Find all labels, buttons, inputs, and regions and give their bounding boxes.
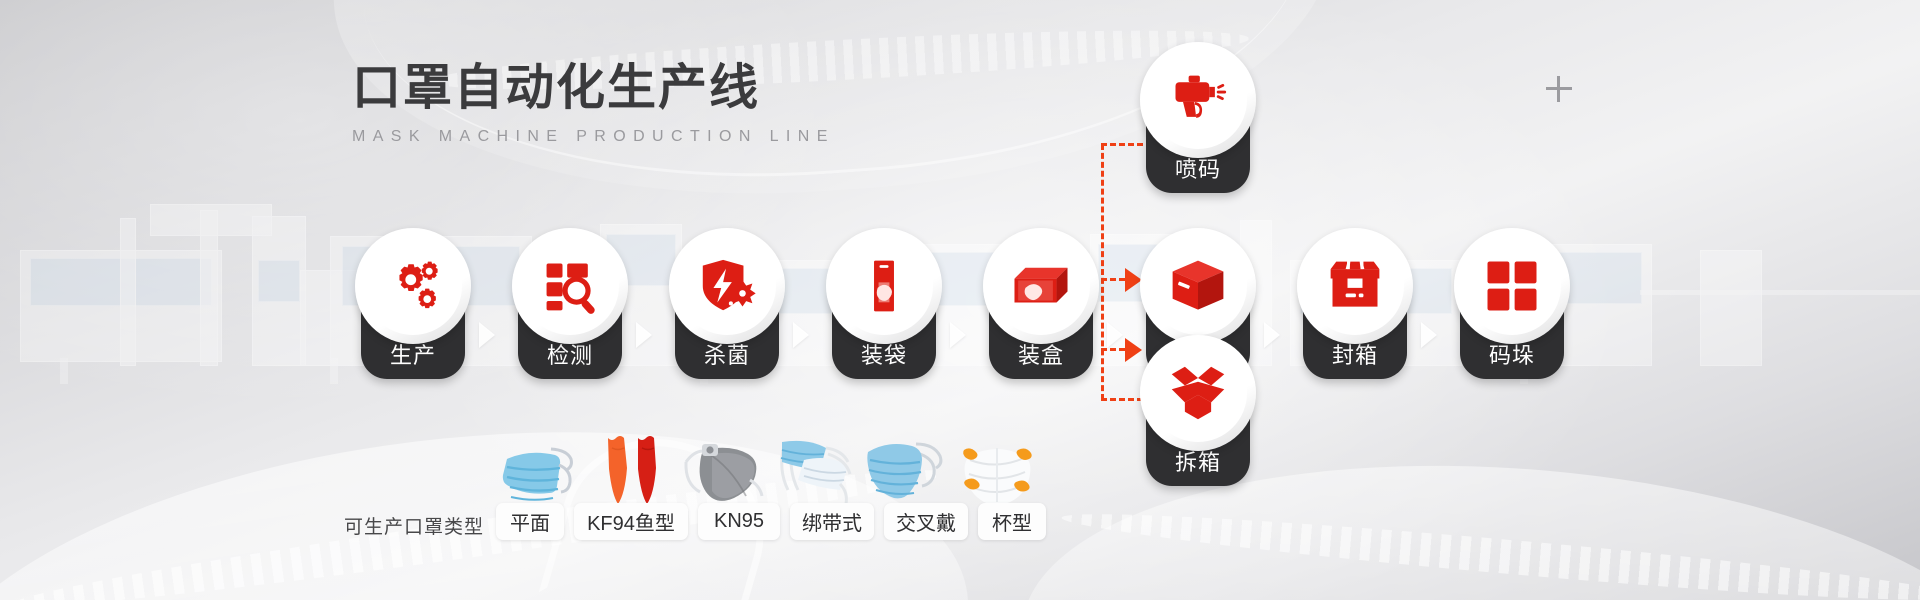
flow-arrow-5 bbox=[1107, 322, 1123, 348]
magnifier-inspection-icon bbox=[540, 256, 600, 316]
page-title: 口罩自动化生产线 bbox=[352, 48, 760, 119]
closed-carton-icon bbox=[1169, 257, 1227, 315]
step-icon-bubble bbox=[1140, 335, 1256, 451]
page-subtitle: MASK MACHINE PRODUCTION LINE bbox=[352, 128, 835, 146]
step-icon-bubble bbox=[355, 228, 471, 344]
mask-photo-cup bbox=[956, 440, 1038, 506]
inkjet-spray-gun-icon bbox=[1168, 70, 1228, 130]
branch-arrow-lower bbox=[1125, 338, 1142, 362]
mask-photo-kn95 bbox=[682, 440, 770, 511]
ghost-mask-bottom-right bbox=[1005, 426, 1920, 600]
mask-photo-cross-wear bbox=[862, 438, 950, 506]
banner-stage: 口罩自动化生产线 MASK MACHINE PRODUCTION LINE 生产 bbox=[0, 0, 1920, 600]
flow-arrow-3 bbox=[793, 322, 809, 348]
step-icon-bubble bbox=[1454, 228, 1570, 344]
mask-photo-flat bbox=[499, 443, 587, 505]
flow-arrow-7 bbox=[1421, 322, 1437, 348]
mask-type-chip-cup[interactable]: 杯型 bbox=[978, 503, 1046, 540]
ghost-mask-br-stitching bbox=[1060, 501, 1920, 600]
mask-photo-tie-on bbox=[770, 436, 862, 506]
flow-arrow-4 bbox=[950, 322, 966, 348]
gears-icon bbox=[382, 255, 444, 317]
step-icon-bubble bbox=[1140, 42, 1256, 158]
mask-types-label: 可生产口罩类型 bbox=[344, 512, 484, 539]
step-icon-bubble bbox=[669, 228, 785, 344]
branch-dashed-mid-upper bbox=[1101, 278, 1125, 281]
mask-photo-kf94 bbox=[598, 434, 668, 506]
step-icon-bubble bbox=[1297, 228, 1413, 344]
mask-type-chip-cross[interactable]: 交叉戴 bbox=[884, 503, 968, 540]
step-icon-bubble bbox=[983, 228, 1099, 344]
mask-type-chip-kf94[interactable]: KF94鱼型 bbox=[574, 503, 688, 540]
plus-decoration-icon bbox=[1546, 76, 1572, 102]
palletize-squares-icon bbox=[1484, 258, 1540, 314]
flow-arrow-1 bbox=[479, 322, 495, 348]
bagging-pouch-icon bbox=[855, 257, 913, 315]
shield-lightning-sterilize-icon bbox=[696, 255, 758, 317]
carton-box-icon bbox=[1009, 254, 1073, 318]
branch-dashed-mid-lower bbox=[1101, 348, 1125, 351]
open-carton-icon bbox=[1168, 363, 1228, 423]
flow-arrow-6 bbox=[1264, 322, 1280, 348]
mask-type-chip-tie[interactable]: 绑带式 bbox=[790, 503, 874, 540]
flow-arrow-2 bbox=[636, 322, 652, 348]
step-icon-bubble bbox=[826, 228, 942, 344]
sealed-carton-icon bbox=[1325, 256, 1385, 316]
mask-type-chip-kn95[interactable]: KN95 bbox=[698, 503, 780, 540]
step-icon-bubble bbox=[512, 228, 628, 344]
step-icon-bubble bbox=[1140, 228, 1256, 344]
mask-type-chip-flat[interactable]: 平面 bbox=[496, 503, 564, 540]
branch-dashed-vertical bbox=[1101, 144, 1104, 400]
